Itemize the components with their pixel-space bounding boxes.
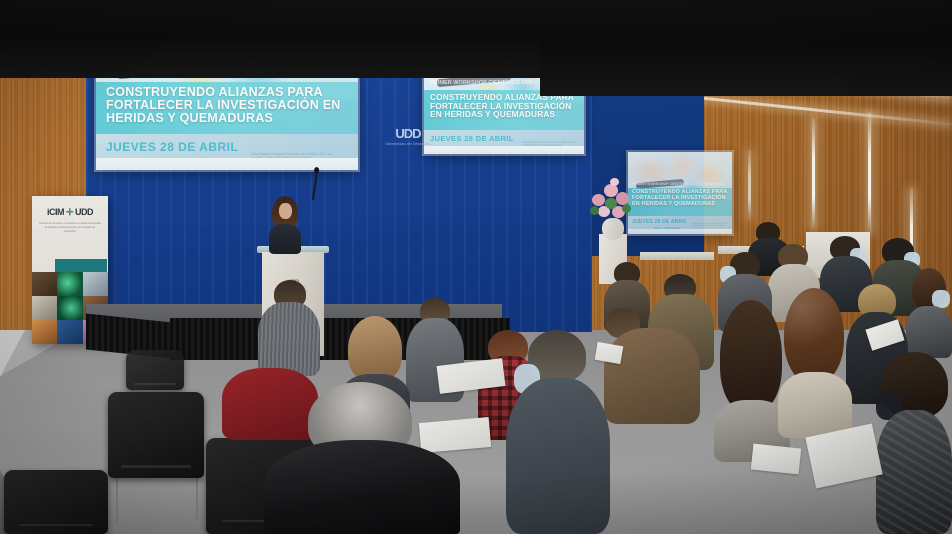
speaker-presenter xyxy=(268,196,302,252)
audience-member xyxy=(506,330,610,534)
notepad xyxy=(751,444,801,475)
audience-torso xyxy=(778,372,852,438)
flower-foliage xyxy=(622,204,631,213)
flower-foliage xyxy=(590,206,599,215)
chair xyxy=(126,350,184,390)
audience-hair xyxy=(348,316,402,382)
slide-headline: CONSTRUYENDO ALIANZAS PARA FORTALECER LA… xyxy=(106,86,346,125)
banner-photo-cell xyxy=(32,296,57,320)
chair xyxy=(4,470,108,534)
udd-wall-logo: UDD Universidad del Desarrollo xyxy=(381,126,435,146)
audience-torso xyxy=(506,378,610,534)
banner-photo-cell xyxy=(83,272,108,296)
conference-room-photo: PRIMER WORKSHOP CIENTÍFICO UDD | COANIQU… xyxy=(0,0,952,534)
audience-member xyxy=(778,288,852,438)
wall-light-strip xyxy=(748,150,751,220)
icim-logo-left: iCIM xyxy=(47,207,64,217)
banner-photo-cell xyxy=(57,272,82,296)
flower-bloom xyxy=(610,178,619,186)
slide-date: JUEVES 28 DE ABRIL xyxy=(632,219,687,225)
projection-screen-tertiary: PRIMER WORKSHOP CIENTÍFICO UDD | COANIQU… xyxy=(628,152,732,234)
slide-address: Aula Magna Campus Ciencias de la Salud, … xyxy=(692,223,728,227)
cross-icon: ✛ xyxy=(66,207,73,217)
audience-torso xyxy=(264,440,460,534)
slide-date: JUEVES 28 DE ABRIL xyxy=(430,134,514,143)
banner-photo-cell xyxy=(32,320,57,344)
audience-hair xyxy=(720,300,782,412)
banner-accent-band xyxy=(55,259,107,272)
slide-kicker: PRIMER WORKSHOP CIENTÍFICO UDD | COANIQU… xyxy=(632,182,724,186)
ceiling-right xyxy=(540,0,952,96)
slide-headline: CONSTRUYENDO ALIANZAS PARA FORTALECER LA… xyxy=(632,190,729,207)
audience-member xyxy=(876,352,952,534)
audience-torso xyxy=(876,410,952,534)
audience-member-foreground xyxy=(264,382,460,534)
speaker-face xyxy=(279,203,292,219)
banner-photo-cell xyxy=(32,272,57,296)
audience-torso xyxy=(604,328,700,424)
banner-photo-cell xyxy=(57,320,82,344)
banner-photo-cell xyxy=(57,296,82,320)
slide-footer xyxy=(628,229,732,234)
audience-hair xyxy=(784,288,844,384)
speaker-torso xyxy=(269,224,301,254)
audience-member xyxy=(604,304,700,424)
slide-headline: CONSTRUYENDO ALIANZAS PARA FORTALECER LA… xyxy=(430,93,578,119)
flower-foliage xyxy=(605,198,617,209)
wall-light-strip xyxy=(812,118,815,230)
audience-member xyxy=(906,268,952,358)
slide-footer xyxy=(424,146,584,154)
banner-tagline: Instituto de Ciencias e Innovación en Me… xyxy=(39,222,101,233)
udd-logo-mark: UDD xyxy=(381,126,435,141)
rear-table xyxy=(640,252,714,260)
slide-date: JUEVES 28 DE ABRIL xyxy=(106,140,238,154)
wall-light-strip xyxy=(868,112,871,234)
audience-torso xyxy=(906,306,952,358)
flower-vase xyxy=(602,218,624,240)
icim-logo-right: UDD xyxy=(75,207,93,217)
udd-logo-subtitle: Universidad del Desarrollo xyxy=(381,142,435,146)
chair xyxy=(108,392,204,478)
chair-leg xyxy=(116,470,118,524)
icim-logo: iCIM ✛ UDD xyxy=(32,207,108,218)
flower-bloom xyxy=(592,194,605,206)
